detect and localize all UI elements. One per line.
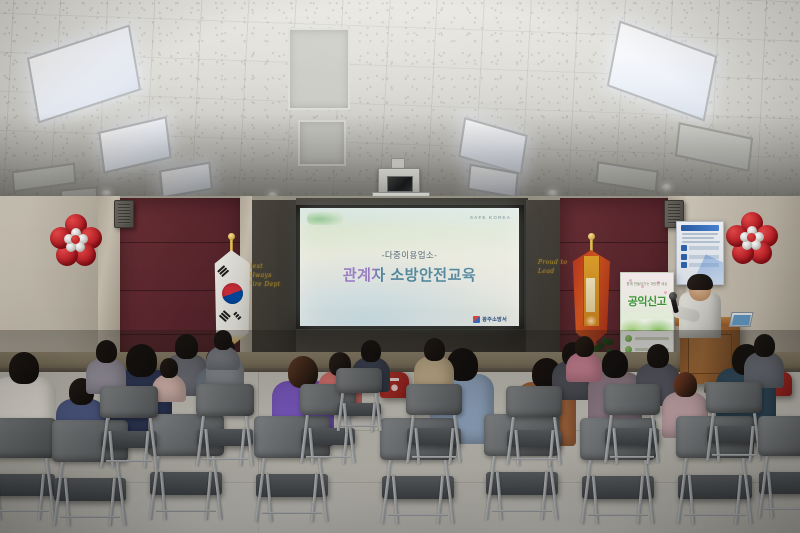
person-hair [602, 350, 628, 378]
trigram-bottom-left [218, 310, 231, 323]
chair-backrest [0, 418, 56, 458]
banner-hill-art [621, 313, 673, 331]
chair-cross-rail [262, 512, 323, 514]
chair-backrest [196, 384, 254, 416]
presenter-hair [687, 274, 713, 290]
chair-cross-rail [588, 514, 649, 516]
chair-17 [758, 416, 800, 516]
chair-cross-rail [684, 514, 746, 516]
banner-item-1 [625, 335, 669, 342]
balloon-flower-right [726, 212, 778, 264]
chair-cross-rail [610, 456, 655, 458]
audience-11 [206, 330, 240, 370]
chair-cross-rail [156, 510, 217, 512]
chair-backrest [506, 386, 562, 417]
chair-cross-rail [712, 454, 757, 456]
fire-dept-emblem-icon [473, 316, 480, 323]
chair-16 [336, 368, 382, 430]
person-hair [575, 336, 594, 357]
ceremonial-honor-flag [572, 250, 610, 346]
honor-flag-emblem [584, 316, 598, 326]
chair-12 [406, 384, 462, 462]
person-hair [214, 330, 232, 350]
chair-cross-rail [388, 514, 449, 516]
chair-cross-rail [512, 458, 557, 460]
chair-cross-rail [492, 510, 553, 512]
honor-flag-plate [586, 278, 595, 312]
chair-cross-rail [764, 508, 800, 510]
person-hair [647, 344, 669, 368]
flagpole-finial-korea [228, 233, 235, 240]
person-hair [96, 340, 117, 363]
chair-13 [506, 386, 562, 464]
balloon-flower-center-right [741, 227, 763, 249]
audience-22 [744, 334, 784, 388]
chair-cross-rail [0, 510, 49, 512]
chair-backrest [604, 384, 660, 415]
chair-backrest [336, 368, 382, 393]
chair-cross-rail [202, 458, 248, 460]
banner-headline: 공익신고 [621, 293, 673, 309]
chair-cross-rail [341, 425, 378, 427]
trigram-bottom-right [233, 308, 246, 321]
trigram-top-left [217, 265, 230, 278]
taeguk-symbol [222, 283, 243, 304]
person-hair [674, 372, 697, 397]
chair-backrest [758, 416, 800, 456]
chair-seat [0, 474, 55, 496]
slide-subtitle: -다중이용업소- [300, 249, 519, 261]
person-hair [160, 358, 178, 378]
chair-cross-rail [60, 516, 121, 518]
podium-laptop [728, 312, 753, 327]
person-hair [361, 340, 381, 362]
chair-backrest [406, 384, 462, 415]
poster-heading-bar [681, 225, 719, 231]
slide-footer-org: 광주소방서 [482, 316, 507, 323]
balloon-flower-left [50, 214, 102, 266]
chair-1 [0, 418, 56, 518]
chair-cross-rail [412, 456, 457, 458]
chair-backrest [706, 382, 762, 413]
slide-title: 관계자 소방안전교육 [300, 264, 519, 285]
chair-5 [100, 386, 158, 466]
person-hair [9, 352, 39, 384]
chair-cross-rail [106, 460, 152, 462]
person-hair [754, 334, 775, 357]
slide-safe-korea-mark: SAFE KOREA [470, 215, 511, 220]
wall-script-left: Best Always Fire Dept [248, 262, 288, 289]
chair-backrest [100, 386, 158, 418]
person-hair [175, 334, 198, 359]
balloon-flower-center-left [65, 229, 87, 251]
poster-bullet-1 [681, 245, 719, 251]
projection-screen: SAFE KOREA -다중이용업소- 관계자 소방안전교육 광주소방서 [300, 208, 519, 326]
chair-6 [196, 384, 254, 464]
safe-korea-logo-icon [307, 212, 343, 225]
flagpole-finial-honor [588, 233, 595, 240]
chair-cross-rail [306, 456, 351, 458]
wall-speaker-left [114, 200, 134, 228]
chair-15 [706, 382, 762, 460]
seminar-hall-photo: Best Always Fire Dept Proud to Lead SAFE… [0, 0, 800, 533]
projector-lens [387, 176, 413, 192]
person-hair [424, 338, 445, 361]
audience-18 [566, 336, 602, 382]
banner-tagline: 함께 만들어가는 깨끗한 세상 [621, 281, 673, 286]
chair-14 [604, 384, 660, 462]
wall-script-right: Proud to Lead [538, 258, 578, 276]
slide-footer: 광주소방서 [473, 316, 507, 323]
